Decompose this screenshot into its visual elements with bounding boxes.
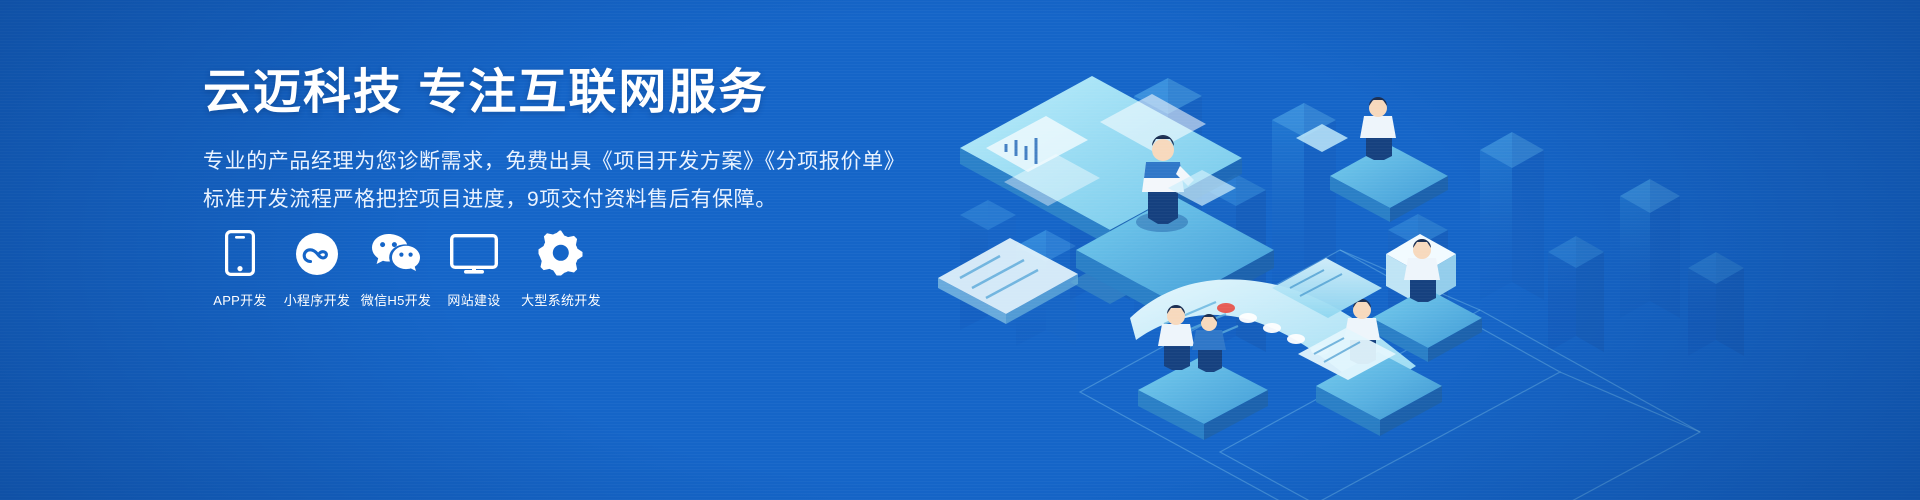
service-label: 微信H5开发 [361,290,431,309]
monitor-icon [450,228,498,276]
hero-banner: 云迈科技 专注互联网服务 专业的产品经理为您诊断需求，免费出具《项目开发方案》《… [0,0,1920,500]
isometric-illustration [920,0,1920,500]
service-item-app[interactable]: APP开发 [203,228,277,309]
subtitle-line-2: 标准开发流程严格把控项目进度，9项交付资料售后有保障。 [203,182,963,218]
service-label: APP开发 [213,290,267,309]
service-label: 大型系统开发 [521,290,601,309]
service-label: 网站建设 [447,290,500,309]
service-label: 小程序开发 [284,290,351,309]
banner-copy: 云迈科技 专注互联网服务 专业的产品经理为您诊断需求，免费出具《项目开发方案》《… [203,64,963,218]
mini-program-icon [295,228,339,276]
service-list: APP开发 小程序开发 微信 [203,228,611,309]
person-upper-right [1360,97,1396,160]
service-item-miniprogram[interactable]: 小程序开发 [279,228,355,309]
banner-subtitle: 专业的产品经理为您诊断需求，免费出具《项目开发方案》《分项报价单》 标准开发流程… [203,144,963,218]
page-title: 云迈科技 专注互联网服务 [203,64,963,122]
service-item-wechat[interactable]: 微信H5开发 [357,228,435,309]
subtitle-line-1: 专业的产品经理为您诊断需求，免费出具《项目开发方案》《分项报价单》 [203,144,963,180]
gear-icon [538,228,584,276]
wechat-icon [370,228,422,276]
service-item-system[interactable]: 大型系统开发 [513,228,609,309]
service-item-website[interactable]: 网站建设 [437,228,511,309]
mobile-phone-icon [225,228,255,276]
